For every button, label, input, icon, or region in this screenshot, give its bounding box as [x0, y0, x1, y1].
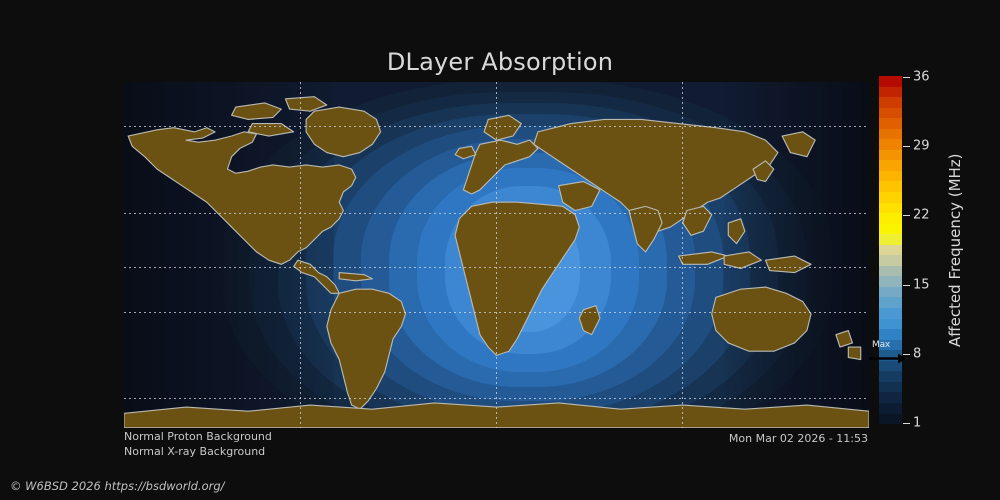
landmass-new-zealand-1 [836, 331, 853, 348]
continents-layer [124, 82, 869, 428]
landmass-arctic-islands-1 [232, 103, 282, 120]
colorbar-tick-label-1: 1 [913, 417, 921, 430]
landmass-scandinavia [484, 115, 521, 140]
colorbar-swatch [879, 139, 902, 150]
colorbar-swatch [879, 297, 902, 308]
colorbar-swatch [879, 76, 902, 87]
colorbar-swatch [879, 171, 902, 182]
landmass-indochina [683, 206, 712, 235]
colorbar-swatch [879, 245, 902, 256]
colorbar-swatch [879, 160, 902, 171]
landmass-central-america [294, 260, 340, 293]
credit-footer: © W6BSD 2026 https://bsdworld.org/ [10, 479, 225, 493]
colorbar-tick-label-15: 15 [913, 279, 930, 292]
colorbar-tick-label-22: 22 [913, 209, 930, 222]
colorbar-swatch [879, 392, 902, 403]
world-map-panel[interactable] [124, 82, 869, 428]
colorbar-tick [903, 77, 910, 78]
colorbar-swatch [879, 319, 902, 330]
page-title: DLayer Absorption [0, 48, 1000, 76]
colorbar-tick [903, 423, 910, 424]
status-proton-background: Normal Proton Background [124, 429, 272, 444]
colorbar-gradient [879, 76, 902, 424]
colorbar-swatch [879, 382, 902, 393]
landmass-africa [455, 202, 579, 355]
colorbar-tick-label-36: 36 [913, 71, 930, 84]
colorbar-swatch [879, 276, 902, 287]
landmass-british-isles [455, 146, 476, 158]
landmass-philippines [728, 219, 745, 244]
colorbar-tick-label-29: 29 [913, 140, 930, 153]
timestamp: Mon Mar 02 2026 - 11:53 [729, 432, 868, 445]
colorbar-swatch [879, 213, 902, 224]
colorbar-tick [903, 285, 910, 286]
colorbar-swatch [879, 350, 902, 361]
colorbar[interactable]: 36 29 22 15 8 1 [879, 76, 902, 424]
colorbar-swatch [879, 234, 902, 245]
colorbar-axis-title: Affected Frequency (MHz) [944, 76, 966, 424]
colorbar-swatch [879, 266, 902, 277]
landmass-caribbean-cuba [339, 273, 372, 281]
landmass-madagascar [579, 306, 600, 335]
landmass-australia [712, 287, 811, 351]
landmass-arctic-islands-2 [285, 97, 326, 111]
colorbar-swatch [879, 108, 902, 119]
colorbar-swatch [879, 287, 902, 298]
colorbar-swatch [879, 192, 902, 203]
colorbar-swatch [879, 87, 902, 98]
landmass-europe [463, 140, 538, 194]
colorbar-swatch [879, 203, 902, 214]
landmass-new-zealand-2 [848, 347, 860, 359]
landmass-kamchatka [782, 132, 815, 157]
colorbar-swatch [879, 224, 902, 235]
colorbar-swatch [879, 118, 902, 129]
landmass-india [629, 206, 662, 252]
colorbar-swatch [879, 329, 902, 340]
colorbar-swatch [879, 403, 902, 414]
colorbar-tick [903, 146, 910, 147]
landmass-indonesia-1 [679, 252, 729, 264]
status-xray-background: Normal X-ray Background [124, 444, 272, 459]
status-notes: Normal Proton Background Normal X-ray Ba… [124, 429, 272, 459]
landmass-new-guinea [766, 256, 812, 273]
landmass-south-america [327, 289, 406, 409]
colorbar-swatch [879, 150, 902, 161]
colorbar-swatch [879, 308, 902, 319]
colorbar-swatch [879, 361, 902, 372]
landmass-greenland [306, 107, 381, 157]
colorbar-tick-label-8: 8 [913, 348, 921, 361]
colorbar-swatch [879, 181, 902, 192]
colorbar-swatch [879, 255, 902, 266]
colorbar-tick [903, 215, 910, 216]
dlayer-absorption-window: DLayer Absorption [0, 0, 1000, 500]
colorbar-swatch [879, 129, 902, 140]
landmass-indonesia-2 [724, 252, 761, 269]
colorbar-swatch [879, 371, 902, 382]
landmass-antarctica [124, 403, 869, 428]
landmass-middle-east [559, 182, 600, 211]
colorbar-swatch [879, 340, 902, 351]
colorbar-tick [903, 354, 910, 355]
colorbar-swatch [879, 414, 902, 425]
colorbar-swatch [879, 97, 902, 108]
